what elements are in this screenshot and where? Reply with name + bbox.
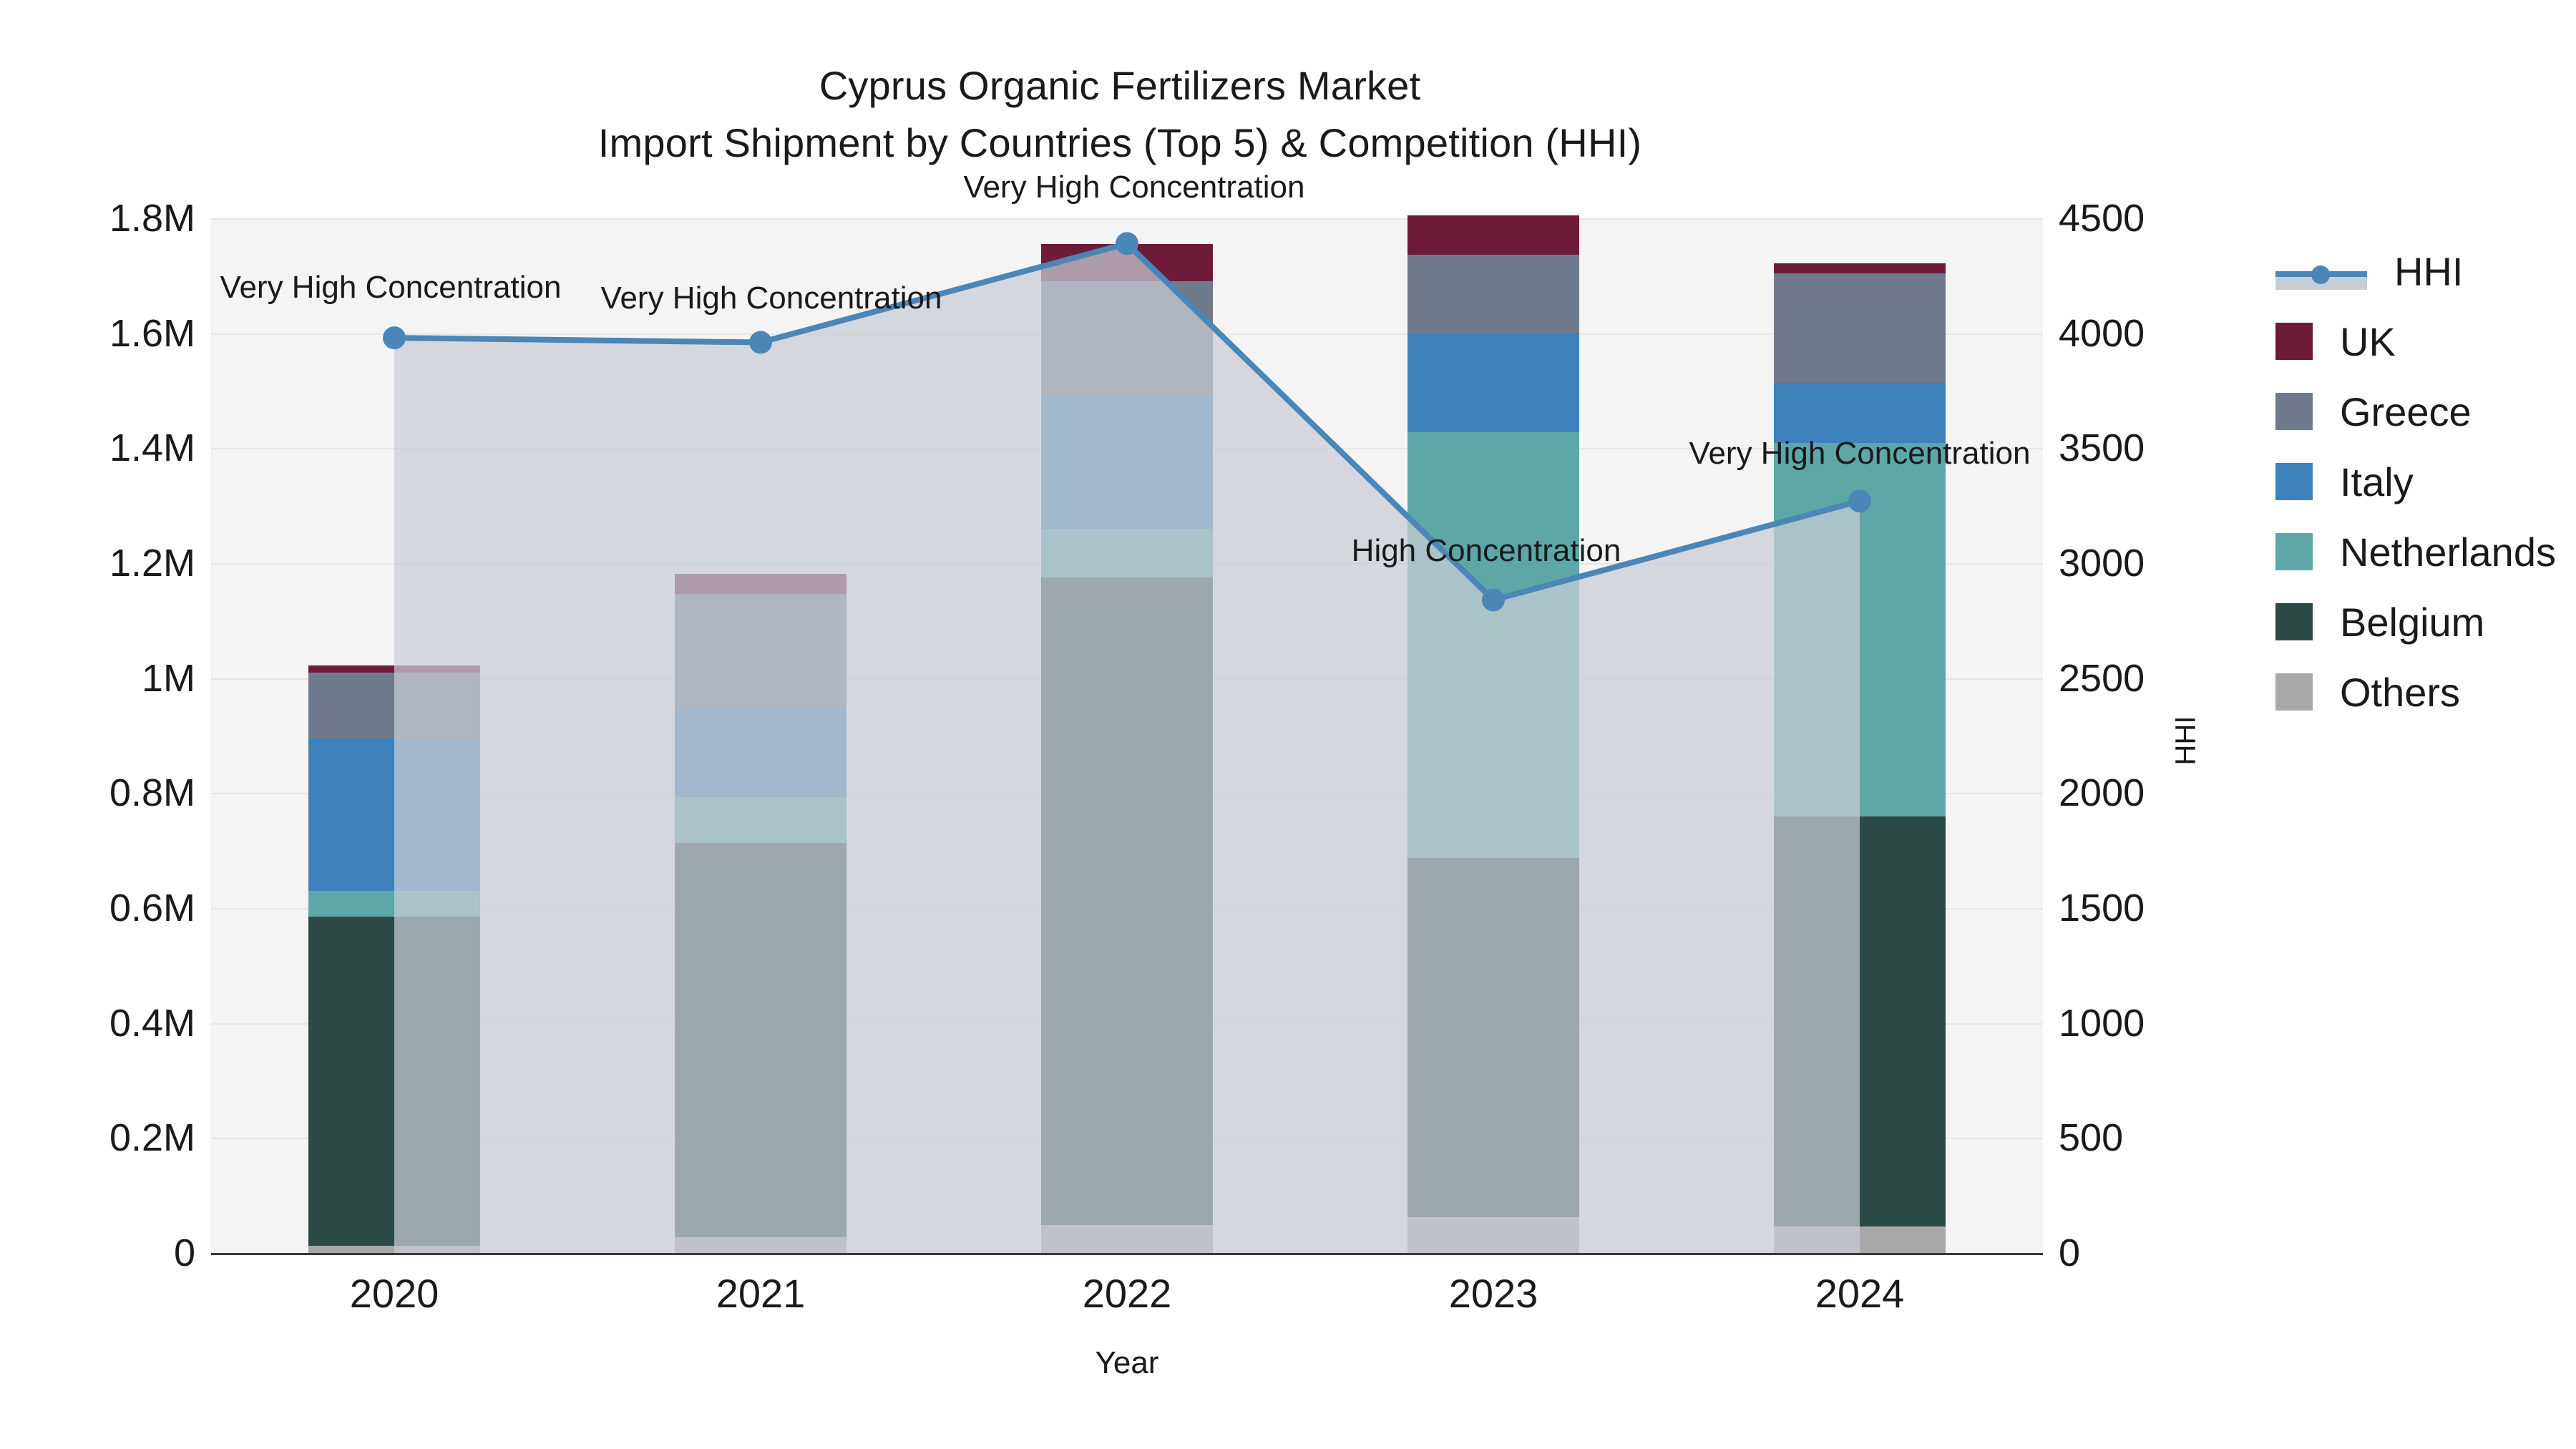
bar-segment-uk[interactable] bbox=[1407, 215, 1579, 255]
bar-segment-italy[interactable] bbox=[1407, 333, 1579, 432]
y-axis-left-tick: 1M bbox=[0, 656, 195, 701]
y-axis-right-tick: 0 bbox=[2059, 1231, 2259, 1275]
y-axis-right-tick: 3000 bbox=[2059, 541, 2259, 585]
y-axis-right-tick: 4000 bbox=[2059, 311, 2259, 356]
x-axis-label: Year bbox=[984, 1345, 1270, 1381]
legend-swatch-icon bbox=[2275, 603, 2313, 640]
bar-segment-greece[interactable] bbox=[1041, 281, 1213, 396]
bar-segment-netherlands[interactable] bbox=[1774, 443, 1946, 816]
legend-label: Italy bbox=[2340, 459, 2414, 505]
bar-segment-belgium[interactable] bbox=[1407, 858, 1579, 1217]
legend-label: Greece bbox=[2340, 389, 2472, 435]
legend-swatch-icon bbox=[2275, 673, 2313, 711]
y-axis-left-tick: 0.4M bbox=[0, 1001, 195, 1045]
x-axis-tick-2021: 2021 bbox=[618, 1270, 904, 1317]
y-axis-left-tick: 0 bbox=[0, 1231, 195, 1275]
legend-item-italy[interactable]: Italy bbox=[2275, 447, 2556, 517]
bar-segment-uk[interactable] bbox=[675, 574, 847, 594]
y-axis-left-tick: 0.6M bbox=[0, 886, 195, 930]
bar-segment-netherlands[interactable] bbox=[1041, 529, 1213, 577]
y-axis-left-tick: 0.2M bbox=[0, 1116, 195, 1160]
legend-label: UK bbox=[2340, 318, 2396, 365]
bar-segment-others[interactable] bbox=[1774, 1226, 1946, 1253]
bar-segment-belgium[interactable] bbox=[308, 917, 480, 1246]
bar-segment-italy[interactable] bbox=[1041, 396, 1213, 529]
x-axis-line bbox=[211, 1253, 2043, 1255]
legend-label: Others bbox=[2340, 669, 2460, 716]
bar-segment-others[interactable] bbox=[675, 1237, 847, 1253]
chart-subtitle: Import Shipment by Countries (Top 5) & C… bbox=[0, 114, 2240, 172]
legend-item-netherlands[interactable]: Netherlands bbox=[2275, 517, 2556, 587]
concentration-annotation: Very High Concentration bbox=[964, 170, 1305, 205]
x-axis-tick-2020: 2020 bbox=[251, 1270, 537, 1317]
y-axis-right-tick: 2000 bbox=[2059, 771, 2259, 815]
bar-segment-italy[interactable] bbox=[675, 708, 847, 797]
bar-segment-greece[interactable] bbox=[1407, 255, 1579, 333]
bar-segment-netherlands[interactable] bbox=[675, 797, 847, 843]
y-axis-right-tick: 500 bbox=[2059, 1116, 2259, 1160]
y-axis-right-tick: 4500 bbox=[2059, 196, 2259, 240]
bar-segment-italy[interactable] bbox=[308, 738, 480, 891]
y-axis-right-tick: 3500 bbox=[2059, 426, 2259, 470]
concentration-annotation: Very High Concentration bbox=[220, 270, 562, 306]
bar-segment-belgium[interactable] bbox=[675, 843, 847, 1236]
bar-segment-netherlands[interactable] bbox=[1407, 432, 1579, 858]
y-axis-left-tick: 1.4M bbox=[0, 426, 195, 470]
bar-segment-others[interactable] bbox=[1041, 1225, 1213, 1253]
y-axis-right-tick: 1500 bbox=[2059, 886, 2259, 930]
bar-segment-netherlands[interactable] bbox=[308, 891, 480, 917]
legend-line-marker-icon bbox=[2275, 253, 2367, 290]
bar-segment-greece[interactable] bbox=[675, 594, 847, 708]
chart-title: Cyprus Organic Fertilizers Market Import… bbox=[0, 57, 2240, 171]
bars-layer bbox=[211, 218, 2043, 1253]
bar-segment-others[interactable] bbox=[1407, 1217, 1579, 1253]
x-axis-tick-2022: 2022 bbox=[984, 1270, 1270, 1317]
bar-stack[interactable] bbox=[1041, 218, 1213, 1253]
y-axis-left-tick: 1.8M bbox=[0, 196, 195, 240]
legend-item-hhi[interactable]: HHI bbox=[2275, 236, 2556, 306]
bar-segment-others[interactable] bbox=[308, 1246, 480, 1253]
concentration-annotation: Very High Concentration bbox=[601, 280, 942, 316]
y-axis-right-tick: 2500 bbox=[2059, 656, 2259, 701]
y-axis-left-tick: 0.8M bbox=[0, 771, 195, 815]
y-axis-left-tick: 1.6M bbox=[0, 311, 195, 356]
chart-figure: Cyprus Organic Fertilizers Market Import… bbox=[0, 0, 2576, 1449]
bar-segment-belgium[interactable] bbox=[1041, 577, 1213, 1225]
bar-stack[interactable] bbox=[308, 218, 480, 1253]
legend-swatch-icon bbox=[2275, 393, 2313, 430]
concentration-annotation: High Concentration bbox=[1352, 533, 1621, 569]
bar-stack[interactable] bbox=[675, 218, 847, 1253]
legend-item-greece[interactable]: Greece bbox=[2275, 376, 2556, 447]
concentration-annotation: Very High Concentration bbox=[1689, 436, 2031, 472]
y-axis-right-tick: 1000 bbox=[2059, 1001, 2259, 1045]
bar-stack[interactable] bbox=[1407, 218, 1579, 1253]
bar-segment-uk[interactable] bbox=[308, 665, 480, 673]
chart-legend: HHIUKGreeceItalyNetherlandsBelgiumOthers bbox=[2275, 236, 2556, 727]
bar-segment-belgium[interactable] bbox=[1774, 816, 1946, 1226]
legend-item-belgium[interactable]: Belgium bbox=[2275, 587, 2556, 657]
legend-swatch-icon bbox=[2275, 323, 2313, 360]
legend-item-uk[interactable]: UK bbox=[2275, 306, 2556, 376]
bar-segment-uk[interactable] bbox=[1041, 244, 1213, 281]
legend-swatch-icon bbox=[2275, 463, 2313, 500]
bar-segment-greece[interactable] bbox=[1774, 273, 1946, 383]
bar-stack[interactable] bbox=[1774, 218, 1946, 1253]
legend-label: Belgium bbox=[2340, 599, 2484, 645]
y-axis-right-label: HHI bbox=[2170, 716, 2202, 766]
bar-segment-greece[interactable] bbox=[308, 673, 480, 738]
legend-swatch-icon bbox=[2275, 533, 2313, 570]
legend-label: Netherlands bbox=[2340, 529, 2556, 575]
chart-title-line-1: Cyprus Organic Fertilizers Market bbox=[0, 57, 2240, 114]
bar-segment-italy[interactable] bbox=[1774, 383, 1946, 443]
legend-item-others[interactable]: Others bbox=[2275, 657, 2556, 727]
y-axis-left-tick: 1.2M bbox=[0, 541, 195, 585]
bar-segment-uk[interactable] bbox=[1774, 263, 1946, 273]
x-axis-tick-2024: 2024 bbox=[1717, 1270, 2003, 1317]
legend-label: HHI bbox=[2394, 248, 2463, 295]
x-axis-tick-2023: 2023 bbox=[1350, 1270, 1636, 1317]
